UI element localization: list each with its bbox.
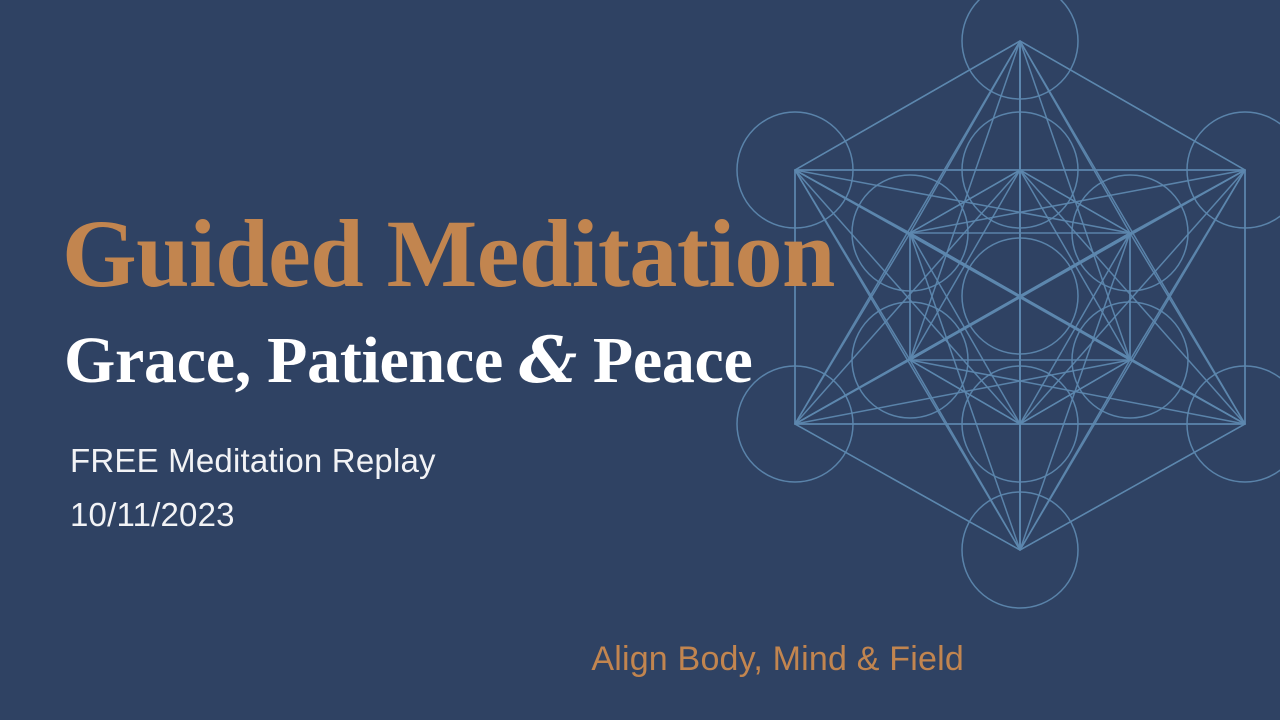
event-details: FREE Meditation Replay 10/11/2023 bbox=[70, 434, 436, 542]
event-type-label: FREE Meditation Replay bbox=[70, 434, 436, 488]
page-subtitle-part-1: Grace, Patience bbox=[64, 324, 519, 397]
page-subtitle: Grace, Patience & Peace bbox=[64, 328, 753, 394]
event-date-label: 10/11/2023 bbox=[70, 488, 436, 542]
slide-canvas: Guided Meditation Grace, Patience & Peac… bbox=[0, 0, 1280, 720]
page-subtitle-part-2: Peace bbox=[577, 324, 753, 397]
geometry-circle-8 bbox=[1187, 112, 1280, 228]
geometry-circle-9 bbox=[1187, 366, 1280, 482]
tagline: Align Body, Mind & Field bbox=[591, 641, 964, 678]
geometry-circle-2 bbox=[1072, 175, 1188, 291]
ampersand-glyph: & bbox=[519, 323, 576, 398]
page-title: Guided Meditation bbox=[62, 206, 835, 302]
geometry-circle-3 bbox=[1072, 302, 1188, 418]
text-content-block: Guided Meditation Grace, Patience & Peac… bbox=[0, 0, 1000, 720]
